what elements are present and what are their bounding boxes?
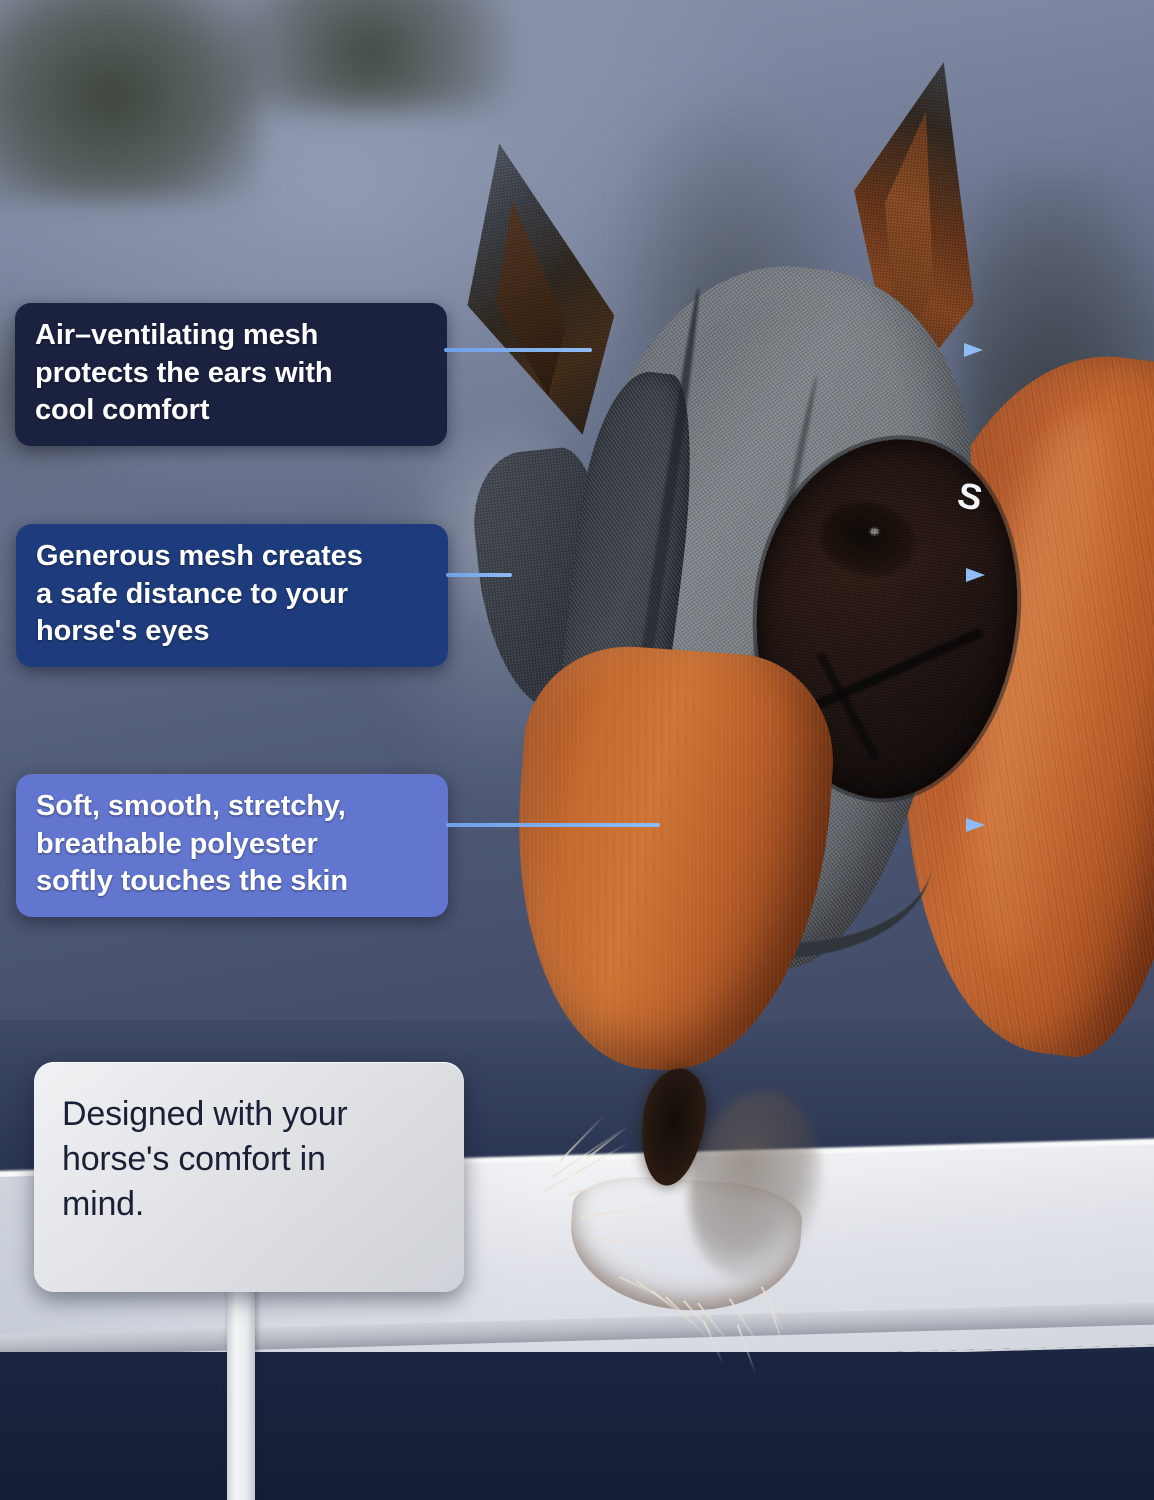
horse-muzzle-fur-texture — [502, 640, 841, 1081]
designed-for-comfort-sign: Designed with your horse's comfort in mi… — [34, 1062, 464, 1292]
horse-whiskers — [516, 1150, 876, 1350]
callout-line: softly touches the skin — [36, 863, 430, 901]
callout-line: Generous mesh creates — [36, 538, 430, 576]
arrow-shaft — [446, 573, 512, 577]
arrow-head-icon — [964, 343, 983, 357]
callout-line: a safe distance to your — [36, 576, 430, 614]
sign-line: mind. — [62, 1182, 442, 1227]
arrow-shaft — [444, 348, 592, 352]
callout-soft-polyester: Soft, smooth, stretchy, breathable polye… — [16, 774, 448, 917]
sign-text-block: Designed with your horse's comfort in mi… — [62, 1092, 442, 1227]
left-ear-mesh-weave — [440, 131, 630, 449]
callout-line: horse's eyes — [36, 613, 430, 651]
callout-air-ventilating-mesh: Air–ventilating mesh protects the ears w… — [15, 303, 447, 446]
callout-arrow-to-mask-fabric — [446, 818, 678, 832]
sign-line: horse's comfort in — [62, 1137, 442, 1182]
arrow-shaft — [446, 823, 660, 827]
product-infographic: S Air–ventilating mesh protects the ears… — [0, 0, 1154, 1500]
sign-line: Designed with your — [62, 1092, 442, 1137]
callout-line: protects the ears with — [35, 355, 429, 393]
callout-line: Soft, smooth, stretchy, — [36, 788, 430, 826]
arrow-head-icon — [966, 818, 985, 832]
arrow-head-icon — [966, 568, 985, 582]
callout-line: cool comfort — [35, 392, 429, 430]
callout-arrow-to-eye-mesh — [446, 568, 530, 582]
callout-arrow-to-ear-mesh — [444, 343, 610, 357]
callout-line: Air–ventilating mesh — [35, 317, 429, 355]
callout-line: breathable polyester — [36, 826, 430, 864]
callout-generous-mesh: Generous mesh creates a safe distance to… — [16, 524, 448, 667]
